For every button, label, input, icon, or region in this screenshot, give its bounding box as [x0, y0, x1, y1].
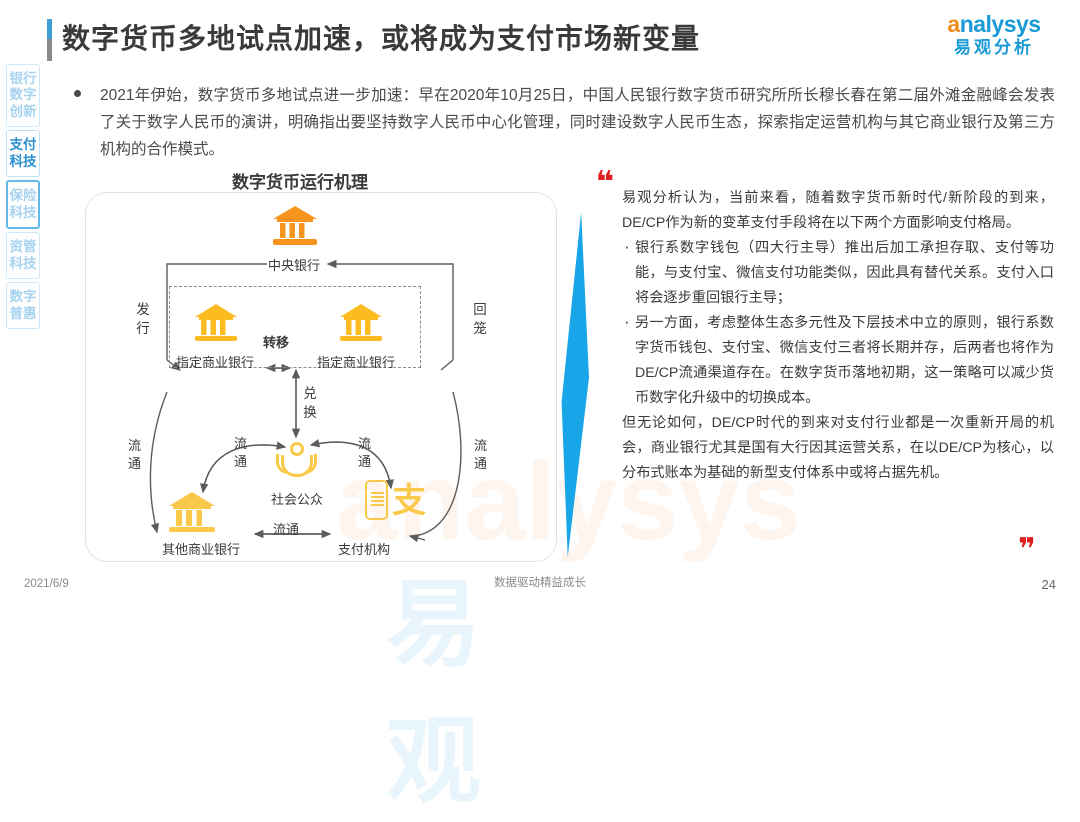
edge-label-circulate-left-outer: 流通 — [127, 437, 142, 473]
edge-label-circulate-right-inner: 流通 — [357, 435, 372, 471]
sidebar-item-insurance[interactable]: 保险科技 — [6, 180, 40, 229]
other-bank-icon — [169, 492, 215, 538]
logo-rest: nalysys — [960, 11, 1041, 37]
page-title: 数字货币多地试点加速，或将成为支付市场新变量 — [62, 17, 700, 57]
analysys-logo: analysys 易观分析 — [930, 13, 1058, 56]
central-bank-icon — [273, 206, 317, 250]
sidebar: 银行数字创新 支付科技 保险科技 资管科技 数字普惠 — [6, 64, 42, 332]
alipay-zhi-glyph: 支 — [392, 484, 426, 518]
analysis-bullet-2: 另一方面，考虑整体生态多元性及下层技术中立的原则，银行系数字货币钱包、支付宝、微… — [622, 311, 1054, 411]
quote-open-icon: ❝ — [596, 168, 612, 198]
sidebar-item-label: 数字普惠 — [7, 289, 39, 322]
slide-root: 数字货币多地试点加速，或将成为支付市场新变量 analysys 易观分析 银行数… — [0, 0, 1080, 608]
edge-label-circulate-left-inner: 流通 — [233, 435, 248, 471]
edge-label-withdraw: 回笼 — [472, 300, 488, 338]
footer-page-number: 24 — [1042, 577, 1056, 592]
sidebar-item-asset[interactable]: 资管科技 — [6, 232, 40, 279]
sidebar-item-bank[interactable]: 银行数字创新 — [6, 64, 40, 127]
blue-leaf-divider — [561, 212, 589, 557]
logo-wordmark: analysys — [930, 13, 1058, 36]
edge-label-circulate-right-outer: 流通 — [473, 437, 488, 473]
payment-phone-icon — [365, 480, 388, 520]
logo-subtitle: 易观分析 — [930, 39, 1058, 56]
lead-bullet-icon — [74, 90, 81, 97]
lead-paragraph: 2021年伊始，数字货币多地试点进一步加速：早在2020年10月25日，中国人民… — [100, 82, 1055, 163]
person-arm-right — [305, 454, 317, 474]
analysis-conclusion: 但无论如何，DE/CP时代的到来对支付行业都是一次重新开局的机会，商业银行尤其是… — [622, 411, 1054, 486]
other-bank-label: 其他商业银行 — [162, 539, 240, 558]
payment-org-label: 支付机构 — [338, 539, 390, 558]
title-accent-bar — [47, 19, 52, 61]
analysis-panel: 易观分析认为，当前来看，随着数字货币新时代/新阶段的到来，DE/CP作为新的变革… — [622, 186, 1054, 486]
quote-close-icon: ❞ — [1018, 535, 1034, 565]
sidebar-item-payment[interactable]: 支付科技 — [6, 130, 40, 177]
sidebar-item-label: 银行数字创新 — [7, 71, 39, 120]
diagram-layer: 中央银行 指定商业银行 指定商业银行 社会公众 其他商业银行 支 支付机构 — [85, 192, 555, 560]
designated-bank-left-label: 指定商业银行 — [176, 352, 254, 371]
analysis-bullet-1: 银行系数字钱包（四大行主导）推出后加工承担存取、支付等功能，与支付宝、微信支付功… — [622, 236, 1054, 311]
sidebar-item-label: 保险科技 — [8, 188, 38, 221]
public-label: 社会公众 — [271, 489, 323, 508]
diagram-title: 数字货币运行机理 — [85, 168, 515, 193]
person-head — [290, 442, 304, 456]
footer-slogan: 数据驱动精益成长 — [0, 574, 1080, 590]
designated-bank-right-label: 指定商业银行 — [317, 352, 395, 371]
edge-label-circulate-bottom: 流通 — [273, 519, 299, 538]
qr-code-icon — [371, 492, 384, 506]
public-person-icon — [279, 442, 317, 482]
analysis-intro: 易观分析认为，当前来看，随着数字货币新时代/新阶段的到来，DE/CP作为新的变革… — [622, 186, 1054, 236]
designated-bank-left-icon — [195, 304, 237, 346]
edge-label-exchange: 兑换 — [302, 384, 318, 422]
sidebar-item-label: 支付科技 — [7, 137, 39, 170]
edge-label-transfer: 转移 — [263, 332, 289, 351]
designated-bank-right-icon — [340, 304, 382, 346]
logo-lead-letter: a — [947, 11, 959, 37]
sidebar-item-inclusive[interactable]: 数字普惠 — [6, 282, 40, 329]
central-bank-label: 中央银行 — [268, 255, 320, 274]
edge-label-issue: 发行 — [135, 300, 151, 338]
sidebar-item-label: 资管科技 — [7, 239, 39, 272]
